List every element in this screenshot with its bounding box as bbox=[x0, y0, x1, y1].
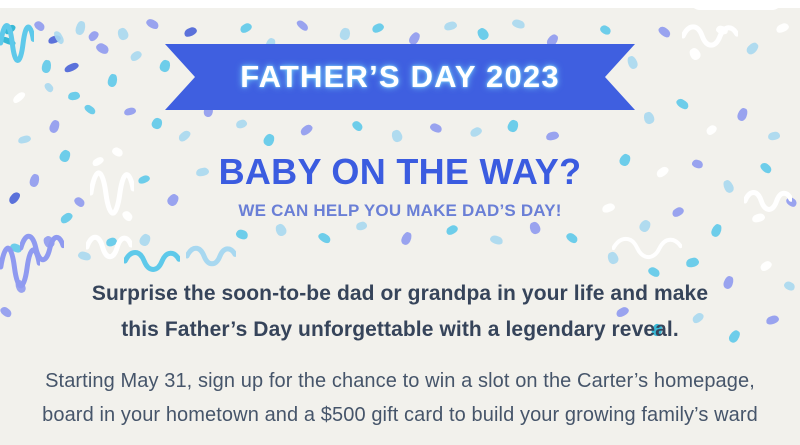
confetti-piece bbox=[41, 59, 52, 73]
confetti-piece bbox=[445, 224, 459, 237]
detail-paragraph: Starting May 31, sign up for the chance … bbox=[0, 364, 800, 432]
confetti-piece bbox=[355, 221, 368, 232]
confetti-piece bbox=[129, 49, 143, 62]
lede-line-2: this Father’s Day unforgettable with a l… bbox=[30, 312, 770, 348]
confetti-piece bbox=[42, 234, 57, 249]
streamer-squiggle-icon bbox=[124, 248, 180, 274]
confetti-piece bbox=[3, 23, 17, 36]
marketing-banner-screenshot: FATHER’S DAY 2023 BABY ON THE WAY? WE CA… bbox=[0, 0, 800, 445]
confetti-piece bbox=[475, 26, 490, 42]
confetti-piece bbox=[642, 111, 655, 126]
confetti-piece bbox=[239, 22, 253, 35]
confetti-piece bbox=[469, 126, 483, 139]
confetti-piece bbox=[0, 35, 17, 46]
confetti-piece bbox=[9, 242, 23, 254]
confetti-piece bbox=[107, 73, 119, 88]
confetti-piece bbox=[429, 122, 443, 134]
top-right-white-tab bbox=[690, 0, 782, 10]
streamer-squiggle-icon bbox=[0, 16, 34, 70]
confetti-piece bbox=[95, 41, 111, 55]
confetti-piece bbox=[183, 26, 198, 39]
confetti-piece bbox=[705, 123, 719, 136]
banner-canvas: FATHER’S DAY 2023 BABY ON THE WAY? WE CA… bbox=[0, 8, 800, 445]
confetti-piece bbox=[63, 61, 80, 74]
confetti-piece bbox=[262, 132, 276, 147]
confetti-piece bbox=[351, 119, 365, 132]
confetti-piece bbox=[736, 107, 749, 122]
confetti-piece bbox=[274, 222, 288, 237]
confetti-piece bbox=[48, 119, 61, 134]
confetti-piece bbox=[606, 251, 620, 266]
confetti-piece bbox=[43, 81, 55, 93]
lede-paragraph: Surprise the soon-to-be dad or grandpa i… bbox=[30, 276, 770, 348]
confetti-piece bbox=[145, 17, 160, 30]
confetti-piece bbox=[11, 90, 26, 104]
confetti-piece bbox=[0, 305, 13, 319]
page-subtitle: WE CAN HELP YOU MAKE DAD’S DAY! bbox=[0, 201, 800, 221]
confetti-piece bbox=[688, 46, 703, 61]
confetti-piece bbox=[150, 117, 163, 131]
page-title: BABY ON THE WAY? bbox=[0, 151, 800, 193]
confetti-piece bbox=[105, 236, 118, 247]
confetti-piece bbox=[116, 27, 130, 42]
confetti-piece bbox=[67, 91, 80, 101]
confetti-piece bbox=[371, 22, 385, 34]
confetti-piece bbox=[783, 280, 796, 292]
confetti-piece bbox=[745, 41, 761, 57]
confetti-piece bbox=[759, 259, 773, 272]
streamer-squiggle-icon bbox=[612, 234, 682, 262]
top-white-strip bbox=[0, 0, 800, 8]
confetti-piece bbox=[400, 231, 414, 247]
confetti-piece bbox=[339, 27, 352, 41]
fathers-day-ribbon: FATHER’S DAY 2023 bbox=[165, 44, 635, 110]
confetti-piece bbox=[123, 107, 136, 117]
confetti-piece bbox=[299, 123, 314, 137]
confetti-piece bbox=[767, 131, 780, 141]
confetti-piece bbox=[14, 279, 28, 295]
confetti-piece bbox=[511, 18, 526, 30]
confetti-piece bbox=[138, 232, 152, 247]
confetti-piece bbox=[506, 119, 520, 134]
confetti-piece bbox=[17, 134, 31, 144]
ribbon-label: FATHER’S DAY 2023 bbox=[165, 44, 635, 110]
streamer-squiggle-icon bbox=[682, 22, 738, 50]
confetti-piece bbox=[33, 19, 47, 32]
confetti-piece bbox=[657, 25, 672, 39]
confetti-piece bbox=[675, 97, 690, 111]
confetti-piece bbox=[390, 129, 404, 144]
confetti-piece bbox=[489, 234, 504, 246]
confetti-piece bbox=[74, 20, 86, 36]
confetti-piece bbox=[77, 250, 92, 261]
confetti-piece bbox=[235, 118, 248, 129]
detail-line-2: board in your hometown and a $500 gift c… bbox=[0, 398, 800, 432]
confetti-piece bbox=[235, 228, 249, 241]
confetti-piece bbox=[599, 24, 613, 36]
confetti-piece bbox=[52, 30, 65, 46]
confetti-piece bbox=[83, 103, 97, 116]
confetti-piece bbox=[87, 29, 100, 42]
confetti-piece bbox=[443, 20, 458, 31]
streamer-squiggle-icon bbox=[20, 230, 64, 266]
streamer-squiggle-icon bbox=[86, 232, 132, 262]
streamer-squiggle-icon bbox=[186, 244, 236, 268]
confetti-piece bbox=[545, 131, 560, 142]
detail-line-1: Starting May 31, sign up for the chance … bbox=[0, 364, 800, 398]
confetti-piece bbox=[565, 231, 579, 245]
confetti-piece bbox=[775, 22, 790, 35]
confetti-piece bbox=[317, 231, 332, 245]
confetti-piece bbox=[47, 34, 62, 45]
confetti-piece bbox=[685, 257, 700, 269]
confetti-piece bbox=[715, 25, 729, 36]
confetti-piece bbox=[177, 129, 192, 143]
confetti-piece bbox=[528, 221, 542, 236]
confetti-piece bbox=[710, 223, 724, 239]
lede-line-1: Surprise the soon-to-be dad or grandpa i… bbox=[30, 276, 770, 312]
confetti-piece bbox=[295, 19, 309, 33]
